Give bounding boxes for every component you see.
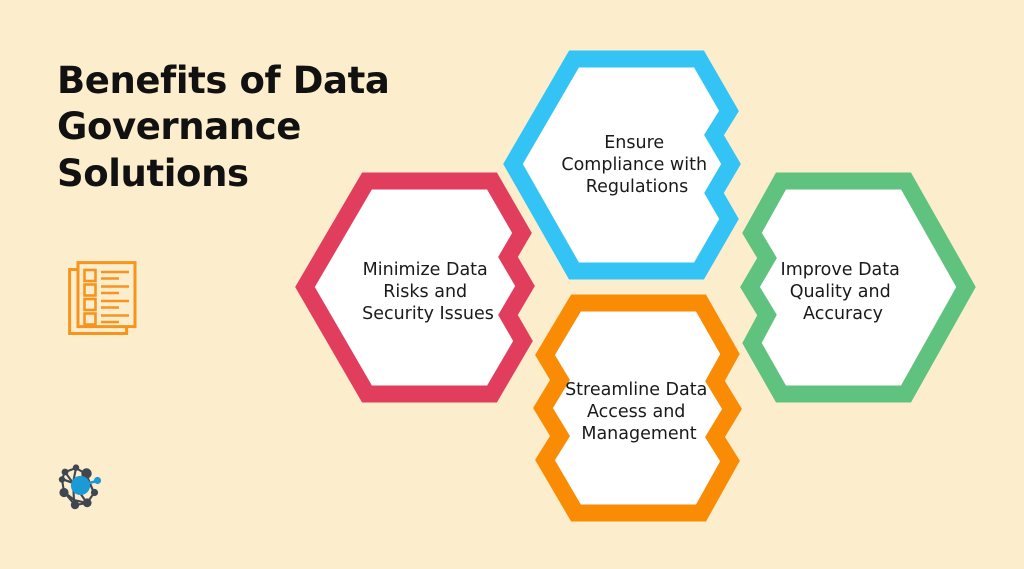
hexagon-compliance[interactable]: Ensure Compliance with Regulations: [513, 59, 731, 271]
hexagon-risks[interactable]: Minimize Data Risks and Security Issues: [305, 181, 525, 394]
hexagon-access-line-3: Management: [581, 424, 696, 444]
hexagon-compliance-line-1: Ensure: [604, 133, 664, 153]
hexagon-compliance-line-3: Regulations: [586, 177, 689, 197]
hexagon-risks-line-1: Minimize Data: [363, 260, 488, 280]
hexagon-compliance-line-2: Compliance with: [561, 155, 707, 175]
hexagon-quality-line-3: Accuracy: [803, 304, 883, 324]
hexagon-cluster: Minimize Data Risks and Security Issues …: [0, 0, 1024, 569]
infographic-canvas: Benefits of Data Governance Solutions: [0, 0, 1024, 569]
hexagon-risks-line-3: Security Issues: [362, 304, 494, 324]
hexagon-access-line-1: Streamline Data: [565, 380, 707, 400]
hexagon-risks-line-2: Risks and: [383, 282, 467, 302]
hexagon-access-line-2: Access and: [587, 402, 685, 422]
hexagon-quality-line-2: Quality and: [790, 282, 891, 302]
hexagon-access-label: Streamline Data Access and Management: [565, 380, 713, 444]
hexagon-access[interactable]: Streamline Data Access and Management: [543, 303, 732, 513]
hexagon-quality-line-1: Improve Data: [781, 260, 900, 280]
hexagon-quality[interactable]: Improve Data Quality and Accuracy: [750, 181, 966, 394]
